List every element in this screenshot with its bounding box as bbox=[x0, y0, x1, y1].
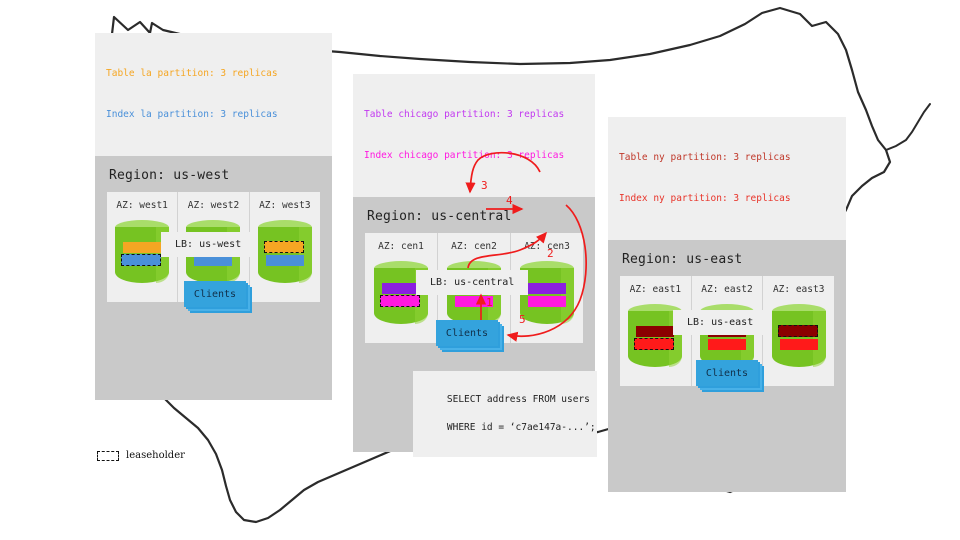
index-replica-bar-leaseholder bbox=[634, 338, 674, 350]
sql-query-box: SELECT address FROM users WHERE id = ‘c7… bbox=[413, 371, 597, 457]
cylinder-east3[interactable] bbox=[772, 304, 826, 374]
table-replica-bar bbox=[528, 283, 566, 294]
diagram-stage: Table la partition: 3 replicas Index la … bbox=[0, 0, 960, 540]
clients-us-central[interactable]: Clients bbox=[436, 320, 498, 346]
az-label-west2: AZ: west2 bbox=[188, 200, 239, 211]
arrow-step-3-label: 3 bbox=[481, 179, 488, 192]
table-replica-bar bbox=[636, 326, 674, 337]
table-replica-bar-leaseholder bbox=[264, 241, 304, 253]
partition-banner-us-west: Table la partition: 3 replicas Index la … bbox=[95, 33, 332, 156]
lb-us-west[interactable]: LB: us-west bbox=[161, 232, 255, 257]
banner-index-line: Index ny partition: 3 replicas bbox=[619, 192, 835, 206]
az-cell-east3[interactable]: AZ: east3 bbox=[763, 276, 834, 386]
region-body-us-west: Region: us-west AZ: west1 AZ: west2 bbox=[95, 156, 332, 400]
clients-label-us-east: Clients bbox=[696, 360, 758, 386]
index-replica-bar bbox=[780, 339, 818, 350]
arrow-step-5-label: 5 bbox=[519, 313, 526, 326]
table-replica-bar bbox=[123, 242, 161, 253]
index-replica-bar bbox=[708, 339, 746, 350]
az-label-east3: AZ: east3 bbox=[773, 284, 824, 295]
banner-index-line: Index la partition: 3 replicas bbox=[106, 108, 321, 122]
region-title-us-west: Region: us-west bbox=[95, 156, 332, 192]
index-replica-bar bbox=[266, 255, 304, 266]
banner-table-line: Table chicago partition: 3 replicas bbox=[364, 108, 584, 122]
region-us-west: Table la partition: 3 replicas Index la … bbox=[95, 33, 332, 400]
table-replica-bar bbox=[382, 283, 420, 294]
region-title-us-east: Region: us-east bbox=[608, 240, 846, 276]
banner-index-line: Index chicago partition: 3 replicas bbox=[364, 149, 584, 163]
az-label-cen1: AZ: cen1 bbox=[378, 241, 424, 252]
clients-label-us-west: Clients bbox=[184, 281, 246, 307]
clients-us-west[interactable]: Clients bbox=[184, 281, 246, 307]
lb-us-east[interactable]: LB: us-east bbox=[673, 310, 767, 335]
clients-label-us-central: Clients bbox=[436, 320, 498, 346]
index-replica-bar-leaseholder bbox=[380, 295, 420, 307]
lb-us-central[interactable]: LB: us-central bbox=[416, 270, 528, 295]
az-label-west1: AZ: west1 bbox=[116, 200, 167, 211]
index-replica-bar bbox=[528, 296, 566, 307]
region-title-us-central: Region: us-central bbox=[353, 197, 595, 233]
az-cell-west3[interactable]: AZ: west3 bbox=[250, 192, 320, 302]
leaseholder-legend: leaseholder bbox=[97, 450, 185, 461]
index-replica-bar-leaseholder bbox=[121, 254, 161, 266]
arrow-step-4-label: 4 bbox=[506, 194, 513, 207]
sql-line-1: SELECT address FROM users bbox=[447, 394, 590, 405]
leaseholder-swatch-icon bbox=[97, 451, 119, 461]
cylinder-west3[interactable] bbox=[258, 220, 312, 290]
az-label-west3: AZ: west3 bbox=[259, 200, 310, 211]
partition-banner-us-east: Table ny partition: 3 replicas Index ny … bbox=[608, 117, 846, 240]
table-replica-bar-leaseholder bbox=[778, 325, 818, 337]
region-us-east: Table ny partition: 3 replicas Index ny … bbox=[608, 117, 846, 492]
sql-line-2: WHERE id = ‘c7ae147a-...’; bbox=[447, 422, 596, 433]
banner-table-line: Table ny partition: 3 replicas bbox=[619, 151, 835, 165]
az-label-east1: AZ: east1 bbox=[630, 284, 681, 295]
az-label-east2: AZ: east2 bbox=[701, 284, 752, 295]
leaseholder-legend-label: leaseholder bbox=[126, 450, 185, 461]
banner-table-line: Table la partition: 3 replicas bbox=[106, 67, 321, 81]
partition-banner-us-central: Table chicago partition: 3 replicas Inde… bbox=[353, 74, 595, 197]
arrow-step-1-label: 1 bbox=[486, 296, 493, 309]
arrow-step-2-label: 2 bbox=[547, 247, 554, 260]
az-label-cen2: AZ: cen2 bbox=[451, 241, 497, 252]
clients-us-east[interactable]: Clients bbox=[696, 360, 758, 386]
